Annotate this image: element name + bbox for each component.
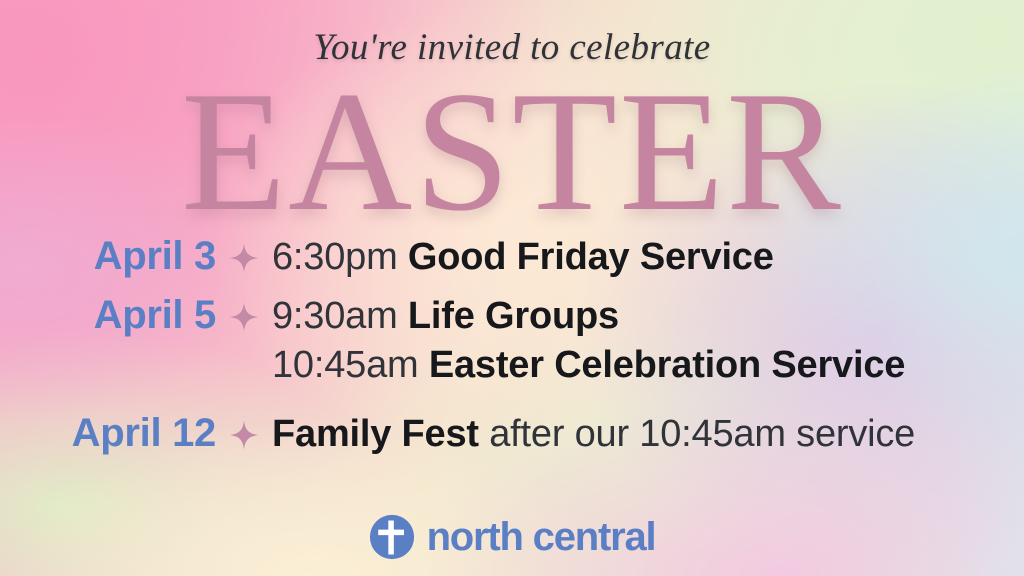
church-logo: north central <box>0 514 1024 560</box>
sparkle-icon <box>216 302 272 332</box>
cross-in-circle-icon <box>369 514 415 560</box>
schedule-event-name: Good Friday Service <box>408 236 774 278</box>
service-schedule: April 3 6:30pm Good Friday Service April… <box>0 234 1024 456</box>
schedule-row: April 3 6:30pm Good Friday Service <box>0 234 1024 279</box>
schedule-event-name: Easter Celebration Service <box>429 344 905 386</box>
schedule-event-name: Family Fest <box>272 413 479 455</box>
schedule-date: April 3 <box>0 234 216 279</box>
schedule-event-suffix: after our 10:45am service <box>479 413 915 455</box>
schedule-event-name: Life Groups <box>408 295 619 337</box>
schedule-row: April 12 Family Fest after our 10:45am s… <box>0 411 1024 456</box>
sparkle-icon <box>216 420 272 450</box>
schedule-time: 9:30am <box>272 295 408 337</box>
page-title: EASTER <box>0 66 1024 238</box>
schedule-date: April 5 <box>0 293 216 338</box>
schedule-date: April 12 <box>0 411 216 456</box>
schedule-event: 10:45am Easter Celebration Service <box>272 344 1024 387</box>
schedule-event: 6:30pm Good Friday Service <box>272 236 1024 279</box>
schedule-row: 10:45am Easter Celebration Service <box>0 344 1024 387</box>
schedule-time: 6:30pm <box>272 236 408 278</box>
schedule-row: April 5 9:30am Life Groups <box>0 293 1024 338</box>
schedule-time: 10:45am <box>272 344 429 386</box>
sparkle-icon <box>216 243 272 273</box>
schedule-event: Family Fest after our 10:45am service <box>272 413 1024 456</box>
logo-wordmark: north central <box>427 517 656 557</box>
schedule-event: 9:30am Life Groups <box>272 295 1024 338</box>
easter-invite-poster: You're invited to celebrate EASTER April… <box>0 0 1024 576</box>
